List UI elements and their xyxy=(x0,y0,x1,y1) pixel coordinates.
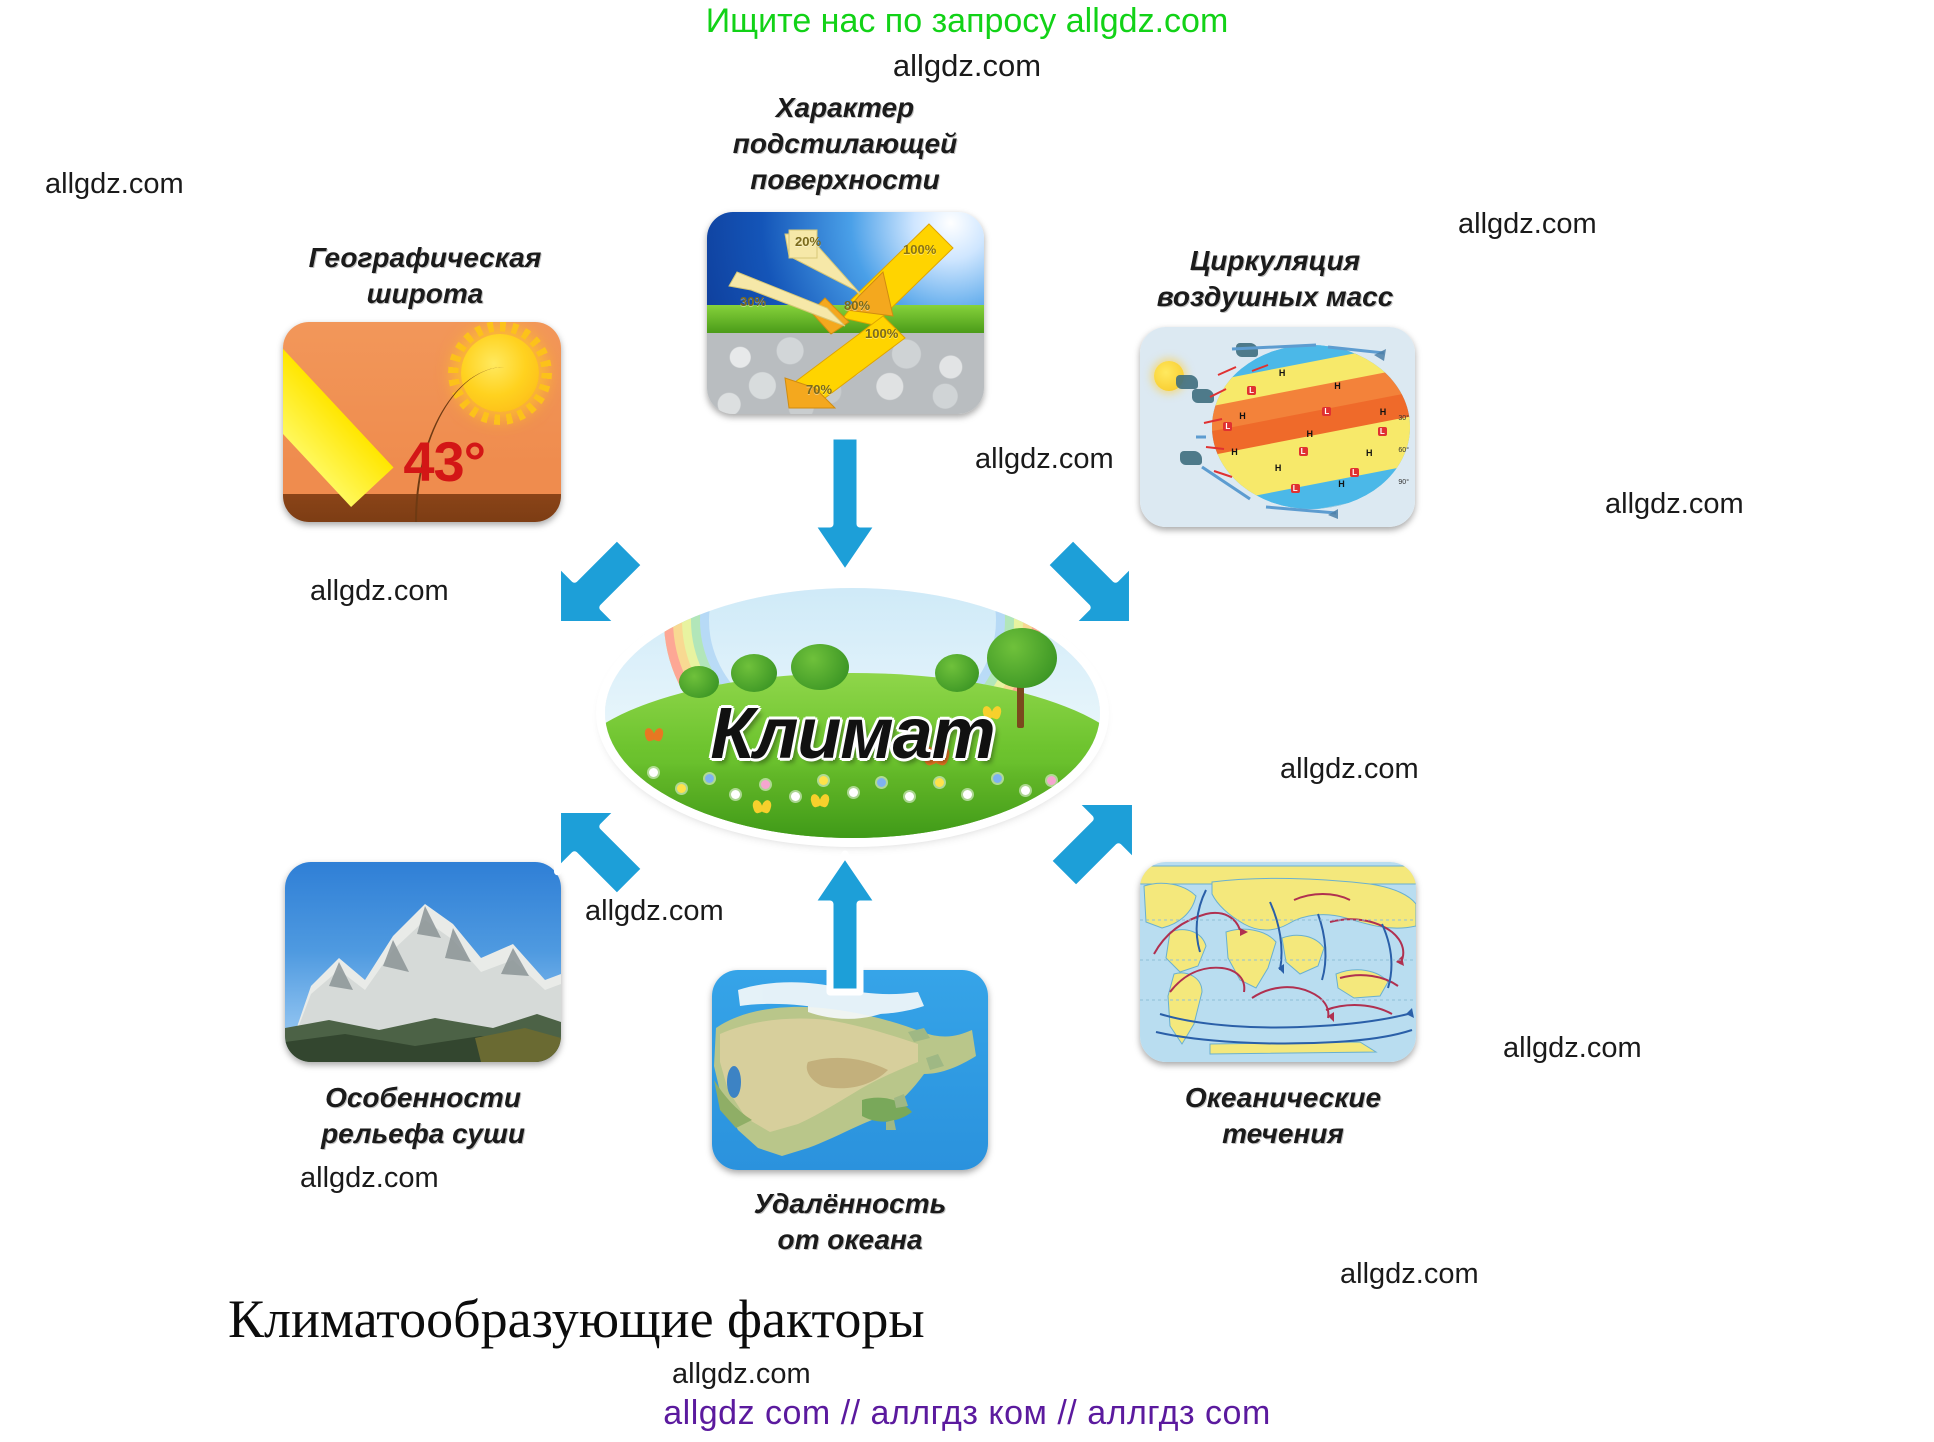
currents-map xyxy=(1140,862,1416,1062)
banner-green-text: Ищите нас по запросу allgdz.com xyxy=(706,2,1229,41)
watermark: allgdz.com xyxy=(45,168,184,201)
flower xyxy=(761,780,770,789)
watermark: allgdz.com xyxy=(1340,1258,1479,1291)
flower xyxy=(791,792,800,801)
mountain-illustration xyxy=(285,862,561,1062)
watermark: allgdz.com xyxy=(1605,488,1744,521)
albedo-label-20: 20% xyxy=(795,234,821,249)
albedo-label-70: 70% xyxy=(806,382,832,397)
eurasia-illustration xyxy=(712,970,988,1170)
watermark: allgdz.com xyxy=(1280,753,1419,786)
flower xyxy=(993,774,1002,783)
circulation-arrows xyxy=(1140,327,1415,527)
arrow-currents-to-center xyxy=(1038,782,1158,897)
flower xyxy=(819,776,828,785)
albedo-label-80: 80% xyxy=(844,298,870,313)
flower xyxy=(731,790,740,799)
latitude-tick: 90° xyxy=(1398,479,1409,486)
tree xyxy=(935,654,979,692)
arrow-circulation-to-center xyxy=(1035,530,1155,645)
tree xyxy=(731,654,777,692)
latitude-tick: 30° xyxy=(1398,415,1409,422)
flower xyxy=(963,790,972,799)
node-image-geographic-latitude: 43° xyxy=(283,322,561,522)
climate-center-oval: Климат xyxy=(605,588,1100,838)
albedo-label-100-mid: 100% xyxy=(865,326,898,341)
latitude-illustration: 43° xyxy=(283,322,561,522)
flower xyxy=(905,792,914,801)
watermark: allgdz.com xyxy=(310,575,449,608)
albedo-label-30: 30% xyxy=(740,294,766,309)
flower xyxy=(677,784,686,793)
arrow-latitude-to-center xyxy=(535,530,655,645)
watermark: allgdz.com xyxy=(1458,208,1597,241)
node-label-air-mass-circulation: Циркуляция воздушных масс xyxy=(1110,243,1440,315)
watermark: allgdz.com xyxy=(672,1358,811,1391)
flower xyxy=(935,778,944,787)
node-image-air-mass-circulation: H H L H L H H L L H L H H L H L xyxy=(1140,327,1415,527)
circulation-illustration: H H L H L H H L L H L H H L H L xyxy=(1140,327,1415,527)
node-label-land-relief-features: Особенности рельефа суши xyxy=(258,1080,588,1152)
mountain-shape xyxy=(285,862,561,1062)
node-label-geographic-latitude: Географическая широта xyxy=(255,240,595,312)
node-label-underlying-surface: Характер подстилающей поверхности xyxy=(680,90,1010,197)
node-label-distance-from-ocean: Удалённость от океана xyxy=(685,1186,1015,1258)
flower xyxy=(1021,786,1030,795)
arrow-surface-to-center xyxy=(805,432,885,580)
node-image-ocean-currents xyxy=(1140,862,1416,1062)
ocean-currents-illustration xyxy=(1140,862,1416,1062)
butterfly xyxy=(753,800,771,814)
watermark: allgdz.com xyxy=(300,1162,439,1195)
node-image-distance-from-ocean xyxy=(712,970,988,1170)
watermark: allgdz.com xyxy=(975,443,1114,476)
arrow-ocean-distance-to-center xyxy=(805,848,885,996)
flower xyxy=(705,774,714,783)
page-title: Климатообразующие факторы xyxy=(228,1288,925,1350)
latitude-degrees-label: 43° xyxy=(403,429,485,494)
butterfly xyxy=(811,794,829,808)
latitude-tick: 60° xyxy=(1398,447,1409,454)
eurasia-landmass xyxy=(712,970,988,1170)
center-label-climate: Климат xyxy=(605,693,1100,775)
node-image-underlying-surface: 100% 20% 80% 100% 30% 70% xyxy=(707,212,984,414)
albedo-label-100-top: 100% xyxy=(903,242,936,257)
flower xyxy=(877,778,886,787)
footer-text: allgdz com // аллгдз ком // аллгдз com xyxy=(663,1394,1271,1433)
arrow-relief-to-center xyxy=(535,790,655,905)
watermark: allgdz.com xyxy=(1503,1032,1642,1065)
flower xyxy=(849,788,858,797)
node-image-land-relief-features xyxy=(285,862,561,1062)
node-label-ocean-currents: Океанические течения xyxy=(1118,1080,1448,1152)
albedo-arrows xyxy=(707,212,984,414)
banner-sub-text: allgdz.com xyxy=(893,48,1041,84)
tree xyxy=(791,644,849,690)
albedo-illustration: 100% 20% 80% 100% 30% 70% xyxy=(707,212,984,414)
